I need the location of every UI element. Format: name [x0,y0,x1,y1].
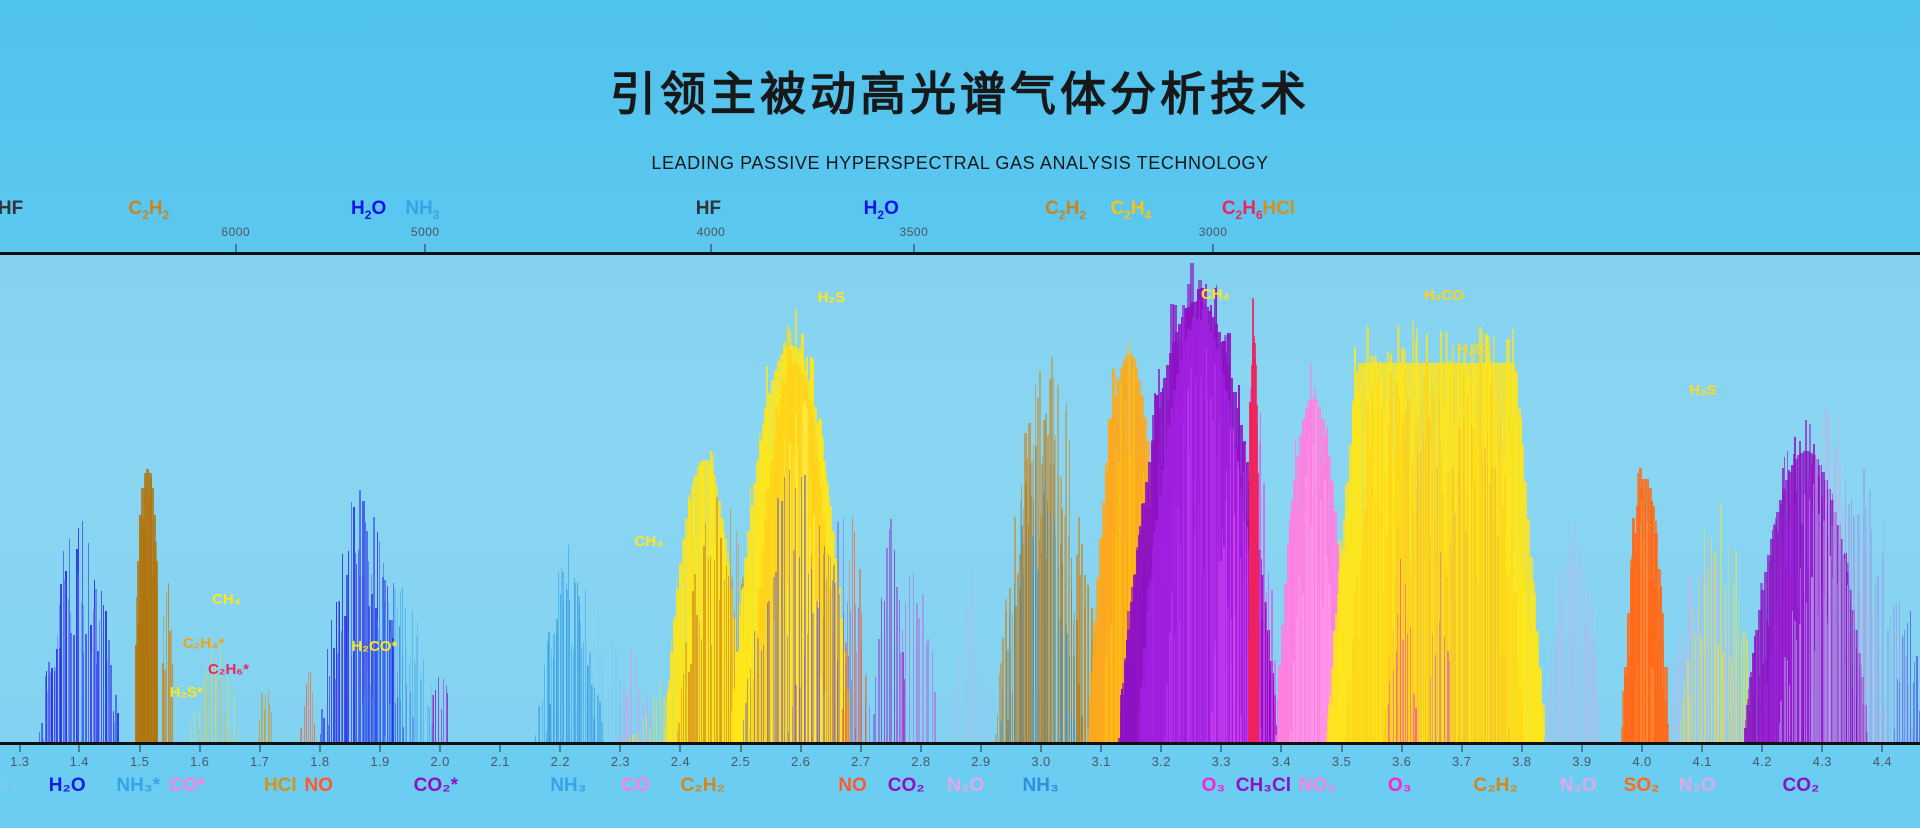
spectral-line [1047,512,1048,742]
spectral-line [417,621,418,743]
spectral-line [93,610,94,742]
spectral-line [1735,550,1737,742]
bottom-tick-mark [500,745,501,752]
spectral-line [1440,552,1441,742]
bottom-tick-label: 3.6 [1392,754,1411,769]
spectral-line [1894,729,1895,742]
spectral-line [405,645,407,743]
bottom-tick-mark [1521,745,1522,752]
bottom-tick-label: 4.0 [1632,754,1651,769]
spectral-line [1508,573,1509,742]
spectral-line [826,578,827,743]
spectral-line [77,574,79,742]
spectral-line [234,693,235,742]
spectral-line [385,609,386,742]
bottom-tick-label: 4.4 [1873,754,1892,769]
spectral-line [626,693,628,742]
spectral-line [681,687,682,743]
bottom-tick-mark [1822,745,1823,752]
spectral-line [443,679,444,742]
spectral-line [1591,693,1592,743]
spectral-line [1580,555,1581,742]
spectral-line [784,477,785,743]
inplot-gas-label: C₂H₄* [183,635,224,652]
spectral-line [81,603,83,742]
spectral-line [1405,584,1406,742]
spectral-line [1720,503,1722,742]
spectral-line [1006,651,1007,742]
spectral-line [402,654,403,742]
top-tick-label: 6000 [221,225,250,239]
bottom-tick-mark [800,745,801,752]
bottom-tick-mark [259,745,260,752]
spectral-line [807,634,809,743]
top-gas-label: HF [696,198,721,220]
bottom-tick-mark [139,745,140,752]
spectral-line [1002,690,1003,742]
bottom-tick-label: 1.8 [310,754,329,769]
spectral-line [1078,684,1080,742]
spectral-envelope [155,561,158,742]
spectral-line [1698,578,1699,742]
spectral-line [1684,684,1685,742]
spectral-line [1502,650,1503,742]
spectral-line [956,655,957,742]
bottom-tick-label: 2.8 [911,754,930,769]
spectral-line [1066,634,1068,742]
spectral-line [678,723,679,742]
spectral-line [1593,635,1595,742]
spectral-line [1061,632,1062,743]
spectral-line [1806,733,1808,742]
bottom-tick-mark [440,745,441,752]
spectral-line [420,671,421,742]
spectral-line [1820,649,1821,742]
spectral-line [801,477,802,742]
spectral-line [1668,727,1669,742]
spectral-line [591,685,592,742]
spectral-line [1180,544,1181,742]
spectral-line [608,685,609,743]
bottom-tick-label: 1.3 [10,754,29,769]
bottom-tick-label: 1.7 [250,754,269,769]
spectral-line [402,587,403,742]
bottom-tick-mark [1882,745,1883,752]
spectral-line [1800,568,1801,742]
spectral-line [1118,463,1120,742]
spectral-line [726,565,727,742]
spectral-line [750,669,751,743]
spectral-line [699,621,701,742]
spectral-line [789,470,790,742]
spectral-line [1827,623,1829,742]
bottom-tick-mark [1161,745,1162,752]
spectral-line [1293,662,1295,742]
spectral-line [1566,654,1567,742]
bottom-tick-label: 1.9 [370,754,389,769]
hyperspectral-banner: 引领主被动高光谱气体分析技术 LEADING PASSIVE HYPERSPEC… [0,0,1920,828]
spectral-line [1220,561,1222,742]
spectral-line [60,584,62,742]
spectral-line [1689,696,1691,742]
spectral-line [1195,380,1196,742]
spectral-line [1913,683,1914,742]
spectral-line [1587,628,1588,742]
spectral-line [878,639,880,742]
spectral-line [583,642,584,742]
spectral-line [261,693,263,742]
spectral-line [323,718,324,742]
spectral-line [1523,733,1524,743]
spectral-line [576,705,577,743]
spectral-line [875,677,876,742]
spectral-line [1487,431,1488,742]
spectral-line [1725,586,1726,742]
spectral-line [1814,651,1816,742]
spectral-line [1166,684,1168,742]
bottom-tick-label: 4.3 [1813,754,1832,769]
spectrum-plot: H₂SCH₄H₂COH₂SH₂SCH₄CH₄C₂H₄*C₂H₆*H₂S*H₂CO… [0,252,1920,742]
spectral-line [566,583,567,742]
spectral-line [763,645,764,742]
spectral-line [1806,603,1807,742]
bottom-tick-mark [199,745,200,752]
bottom-tick-mark [1221,745,1222,752]
spectral-line [1771,649,1772,742]
spectral-line [1879,672,1880,742]
inplot-gas-label: H₂S* [170,684,203,701]
spectral-line [922,594,924,742]
spectral-line [615,649,617,742]
spectral-line [1875,582,1876,742]
bottom-wavelength-axis: 1.31.41.51.61.71.81.92.02.12.22.32.42.52… [0,742,1920,828]
spectral-line [364,691,365,742]
spectral-line [573,729,574,742]
spectral-line [1026,536,1027,742]
spectral-line [1497,536,1499,742]
spectral-line [1804,494,1805,742]
inplot-gas-label: CH₄ [635,533,664,550]
spectral-line [646,717,647,742]
spectral-line [400,659,401,742]
spectral-line [99,620,100,742]
spectral-line [114,722,115,742]
spectral-line [348,634,349,742]
spectral-line [1512,604,1513,742]
spectral-line [1374,411,1375,743]
spectral-line [1505,655,1507,742]
spectral-line [905,603,906,742]
spectral-line [1904,630,1906,742]
spectral-line [535,735,536,742]
spectral-line [301,727,302,742]
bottom-tick-label: 4.1 [1692,754,1711,769]
spectral-line [1266,592,1267,742]
spectral-line [414,658,415,742]
spectral-line [1547,695,1548,742]
spectral-line [1711,538,1712,742]
bottom-tick-label: 3.0 [1031,754,1050,769]
spectral-line [823,618,825,742]
spectral-line [1482,459,1483,742]
spectral-line [1459,430,1460,742]
top-gas-label: NH3 [405,198,439,222]
spectral-line [894,550,896,742]
inplot-gas-label: CH₄ [212,591,241,608]
top-gas-label: C2H2 [1045,198,1086,222]
spectral-line [310,672,311,742]
spectral-line [932,651,933,742]
spectral-line [1893,605,1895,743]
inplot-gas-label: H₂S [1457,341,1485,358]
bottom-gas-label: CO [621,775,650,797]
spectral-line [660,681,661,742]
inplot-gas-label: H₂CO [1424,287,1464,304]
bottom-tick-label: 3.4 [1272,754,1291,769]
spectral-line [1271,590,1273,743]
spectral-line [441,709,442,742]
spectral-line [1055,535,1057,742]
spectral-line [1692,609,1693,743]
spectral-line [1769,657,1770,742]
spectral-line [1037,570,1039,742]
spectral-line [811,555,813,742]
bottom-tick-label: 2.0 [430,754,449,769]
spectral-line [372,698,373,742]
spectral-line [382,607,383,742]
spectral-line [754,631,756,742]
spectral-line [1030,464,1031,743]
spectral-line [191,724,192,742]
spectral-line [714,560,715,742]
bottom-tick-label: 1.5 [130,754,149,769]
page-subtitle: LEADING PASSIVE HYPERSPECTRAL GAS ANALYS… [0,153,1920,174]
spectral-line [438,677,439,742]
spectral-line [341,631,343,742]
spectral-line [1887,630,1889,743]
spectral-line [1315,403,1317,742]
spectral-line [1817,616,1819,742]
bottom-tick-mark [680,745,681,752]
spectral-line [1792,611,1793,742]
bottom-tick-mark [1041,745,1042,752]
spectral-line [747,679,748,742]
bottom-gas-label: CO₂* [414,775,458,797]
spectral-line [1410,627,1411,742]
bottom-tick-label: 3.5 [1332,754,1351,769]
spectral-line [975,642,976,742]
bottom-gas-label: NH₃* [116,775,160,797]
spectral-line [172,664,173,742]
bottom-tick-mark [1762,745,1763,752]
top-gas-label: C2H2 [128,198,169,222]
spectral-line [1432,634,1433,742]
spectral-line [344,622,345,742]
spectral-line [1910,611,1911,742]
bottom-tick-label: 3.3 [1212,754,1231,769]
bottom-tick-mark [620,745,621,752]
spectral-line [1637,663,1638,742]
spectral-line [1174,639,1175,742]
top-tick-label: 3000 [1199,225,1228,239]
spectral-line [1560,676,1561,742]
spectral-line [1044,486,1045,742]
spectral-line [1302,594,1304,743]
top-gas-label: HF [0,198,23,220]
spectral-line [983,667,984,742]
spectral-line [225,715,226,742]
spectral-line [1599,702,1600,742]
spectral-line [199,730,201,742]
spectral-line [1777,622,1779,742]
spectral-line [1802,549,1804,743]
spectral-line [886,548,888,742]
spectral-line [1853,516,1855,742]
inplot-gas-label: H₂S [818,289,846,306]
spectral-line [630,649,631,742]
spectral-line [1198,506,1199,742]
spectral-line [203,691,205,742]
spectral-line [972,568,973,742]
spectral-line [969,607,970,742]
spectral-line [1717,644,1719,742]
spectral-line [612,639,613,742]
spectral-line [1809,691,1810,742]
spectral-line [1010,647,1011,742]
bottom-tick-mark [1641,745,1642,752]
spectral-line [881,598,882,742]
spectral-line [1738,601,1740,742]
spectral-line [1012,693,1013,742]
spectral-line [1714,551,1715,742]
bottom-tick-label: 2.9 [971,754,990,769]
spectral-line [816,601,817,742]
page-title: 引领主被动高光谱气体分析技术 [0,58,1920,124]
spectral-line [799,687,801,742]
spectral-line [59,605,60,742]
spectral-line [586,640,587,742]
spectral-line [1274,660,1276,742]
bottom-gas-label: NH₃ [1023,775,1059,797]
spectral-line [1245,445,1246,742]
spectral-line [1385,709,1387,742]
spectral-line [370,685,371,742]
spectral-line [1023,574,1024,742]
spectral-line [546,732,547,742]
spectral-line [1897,679,1898,742]
bottom-gas-label: O₃ [1202,775,1226,797]
spectral-line [103,687,104,743]
top-tick-mark [1213,244,1214,252]
top-gas-label: H2O [864,198,899,222]
spectral-line [544,665,545,742]
spectral-line [1478,584,1479,742]
inplot-gas-label: CH₄ [1201,286,1230,303]
spectral-line [1073,721,1075,742]
spectral-line [771,682,772,742]
spectral-envelope [1257,473,1259,742]
spectral-line [846,657,847,742]
spectral-line [1796,640,1797,742]
top-tick-label: 4000 [697,225,726,239]
spectral-line [593,719,594,742]
spectral-line [795,685,797,742]
spectral-line [724,580,725,742]
spectral-line [308,673,309,742]
spectral-line [1851,498,1853,742]
spectral-line [1451,468,1453,742]
spectral-line [229,680,230,742]
spectral-line [1389,682,1390,742]
spectral-line [1839,546,1840,742]
spectral-line [1761,718,1762,742]
spectral-line [1081,544,1083,742]
bottom-tick-label: 2.6 [791,754,810,769]
spectral-line [1859,515,1860,742]
spectral-line [804,654,805,742]
spectral-line [1425,443,1426,742]
bottom-tick-mark [19,745,20,752]
spectral-line [1420,451,1422,742]
spectral-line [656,699,657,742]
bottom-tick-mark [1702,745,1703,752]
spectral-line [1708,567,1709,743]
spectral-line [839,594,840,742]
spectral-line [1471,424,1473,742]
spectral-line [312,692,313,742]
spectral-line [1695,635,1696,742]
spectral-line [598,609,599,742]
bottom-gas-label: CO₂ [888,775,925,797]
spectral-line [1268,573,1269,742]
spectral-line [1899,682,1900,742]
spectral-line [1200,377,1202,742]
spectral-line [1916,656,1918,742]
spectral-line [1578,592,1579,742]
spectral-line [1763,685,1764,742]
bottom-tick-mark [79,745,80,752]
spectral-line [1780,701,1782,742]
spectral-line [1215,641,1216,742]
spectral-line [643,719,644,742]
spectral-line [1871,530,1872,742]
spectral-line [1415,708,1416,742]
bottom-gas-label: N₂O [1560,775,1597,797]
spectral-line [1902,635,1903,742]
spectral-line [304,706,306,742]
spectral-line [85,634,87,742]
inplot-gas-label: C₂H₆* [208,661,249,678]
spectral-line [271,712,272,742]
spectral-line [101,591,102,742]
spectral-line [447,693,448,742]
spectral-line [1877,575,1878,743]
spectral-line [219,678,220,742]
bottom-gas-label: NO [304,775,333,797]
spectral-line [1240,558,1242,742]
bottom-tick-mark [379,745,380,752]
spectral-line [1700,637,1702,742]
spectral-line [639,688,640,742]
top-tick-mark [913,244,914,252]
spectral-line [211,643,212,743]
bottom-gas-label: O₃ [1388,775,1412,797]
spectral-line [1050,512,1051,742]
bottom-gas-label: CO₂ [1782,775,1819,797]
spectral-line [603,669,604,742]
top-tick-label: 5000 [411,225,440,239]
spectral-line [1310,526,1312,742]
